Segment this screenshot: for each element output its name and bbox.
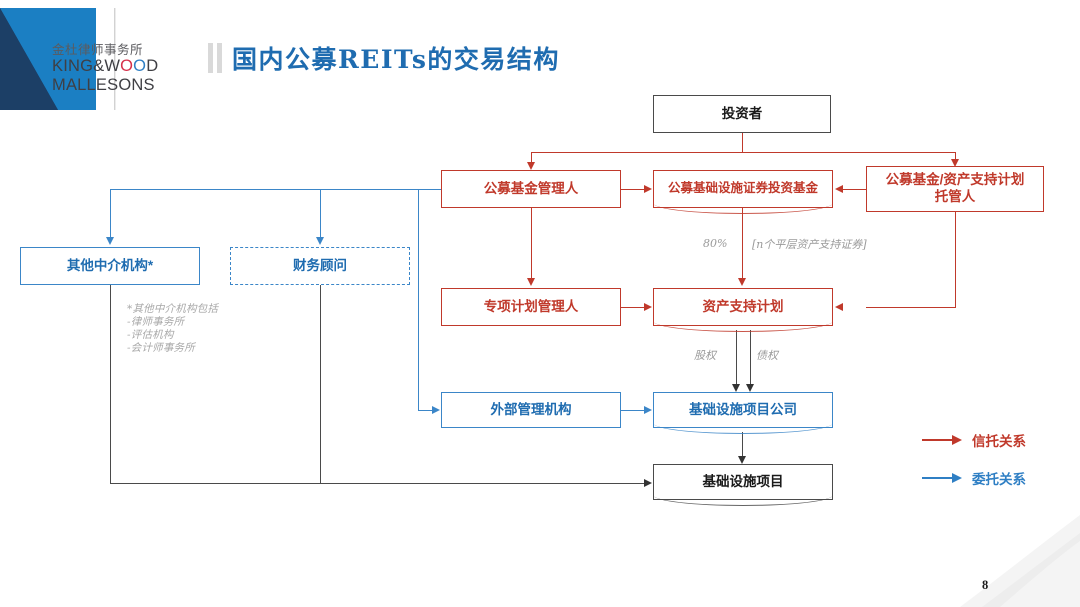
edge-investor-to-fundmanager-h [531, 152, 743, 153]
edge-fundmanager-to-absmanager [531, 208, 532, 278]
node-investor-label: 投资者 [722, 106, 763, 123]
logo-name-en-line2: MALLESONS [52, 76, 184, 95]
edge-custodian-to-absplan-h [866, 307, 956, 308]
node-fund-manager[interactable]: 公募基金管理人 [441, 170, 621, 208]
edge-custodian-down [955, 212, 956, 307]
legend-label-trust: 信托关系 [972, 430, 1026, 450]
page-number: 8 [982, 578, 988, 593]
title-accent-bars [208, 43, 222, 73]
edge-projectcompany-to-project [742, 432, 743, 456]
edge-label-n-tranche-abs: [n个平层资产支持证券] [752, 236, 867, 252]
edge-custodian-to-reitfund [843, 189, 866, 190]
node-investor[interactable]: 投资者 [653, 95, 831, 133]
logo-name-cn: 金杜律师事务所 [52, 42, 184, 57]
edge-bus-to-external-manager [418, 410, 432, 411]
edge-fundmanager-stem [531, 152, 532, 162]
legend-arrow-blue-icon [922, 473, 962, 483]
logo-wordmark: 金杜律师事务所 KING&WOOD MALLESONS [52, 42, 184, 95]
node-fund-manager-label: 公募基金管理人 [484, 181, 579, 198]
arrow-absplan-from-custodian [835, 303, 843, 311]
arrow-debt-into-project-company [746, 384, 754, 392]
footnote-other-intermediaries: *其他中介机构包括 -律师事务所 -评估机构 -会计师事务所 [127, 303, 218, 355]
arrow-into-external-manager [432, 406, 440, 414]
edge-other-intermediaries-drop [110, 285, 111, 483]
node-project-company-label: 基础设施项目公司 [689, 402, 797, 419]
edge-fundmanager-to-reitfund [621, 189, 644, 190]
arrow-into-abs-plan [738, 278, 746, 286]
logo-name-en-line1: KING&WOOD [52, 57, 184, 76]
arrow-into-project-company [644, 406, 652, 414]
arrow-equity-into-project-company [732, 384, 740, 392]
edge-financial-advisor-drop [320, 285, 321, 483]
arrow-into-fund-manager [527, 162, 535, 170]
node-public-reit-fund-label: 公募基础设施证券投资基金 [668, 181, 818, 197]
page-title: 国内公募REITs的交易结构 [232, 40, 560, 76]
edge-label-debt: 债权 [756, 347, 778, 363]
edge-investor-to-custodian-h [742, 152, 955, 153]
arrow-bottom-bus-into-project [644, 479, 652, 487]
node-abs-plan[interactable]: 资产支持计划 [653, 288, 833, 326]
edge-externalmanager-to-projectcompany [621, 410, 644, 411]
logo-en-o-red: O [120, 57, 133, 75]
edge-bus-down-other [110, 189, 111, 237]
node-abs-plan-manager[interactable]: 专项计划管理人 [441, 288, 621, 326]
node-abs-plan-label: 资产支持计划 [703, 299, 784, 316]
arrow-into-reit-fund [644, 185, 652, 193]
edge-fundmanager-left-bus [110, 189, 441, 190]
edge-absplan-equity [736, 330, 737, 384]
node-public-reit-fund[interactable]: 公募基础设施证券投资基金 [653, 170, 833, 208]
node-external-manager[interactable]: 外部管理机构 [441, 392, 621, 428]
legend-arrow-red-icon [922, 435, 962, 445]
edge-absplan-debt [750, 330, 751, 384]
edge-absmanager-to-absplan [621, 307, 644, 308]
slide-canvas: 金杜律师事务所 KING&WOOD MALLESONS 国内公募REITs的交易… [0, 0, 1080, 607]
arrow-into-other-intermediaries [106, 237, 114, 245]
node-abs-plan-manager-label: 专项计划管理人 [484, 299, 579, 316]
corner-swoosh-icon [890, 515, 1080, 607]
node-project-company[interactable]: 基础设施项目公司 [653, 392, 833, 428]
logo-en-seg-b: D [146, 57, 158, 75]
edge-bus-right-down [418, 189, 419, 410]
node-external-manager-label: 外部管理机构 [491, 402, 572, 419]
legend-item-trust: 信托关系 [922, 430, 1026, 450]
arrow-reitfund-from-custodian [835, 185, 843, 193]
arrow-into-abs-plan-manager [527, 278, 535, 286]
edge-investor-down [742, 133, 743, 153]
legend-item-entrust: 委托关系 [922, 468, 1026, 488]
node-custodian-label: 公募基金/资产支持计划 托管人 [886, 172, 1025, 206]
node-other-intermediaries-label: 其他中介机构* [67, 258, 153, 275]
corner-decoration [890, 515, 1080, 607]
logo-en-seg-a: KING&W [52, 57, 120, 75]
edge-bottom-bus [110, 483, 644, 484]
edge-label-equity: 股权 [694, 347, 716, 363]
arrow-absplan-from-manager [644, 303, 652, 311]
edge-label-eighty-percent: 80% [703, 237, 727, 250]
logo-en-o-blue: O [133, 57, 146, 75]
node-infrastructure-project-label: 基础设施项目 [703, 474, 784, 491]
arrow-into-financial-advisor [316, 237, 324, 245]
firm-logo: 金杜律师事务所 KING&WOOD MALLESONS [0, 0, 186, 120]
node-other-intermediaries[interactable]: 其他中介机构* [20, 247, 200, 285]
legend-label-entrust: 委托关系 [972, 468, 1026, 488]
edge-reitfund-to-absplan [742, 208, 743, 278]
node-financial-advisor[interactable]: 财务顾问 [230, 247, 410, 285]
node-custodian[interactable]: 公募基金/资产支持计划 托管人 [866, 166, 1044, 212]
arrow-into-infrastructure-project [738, 456, 746, 464]
node-infrastructure-project[interactable]: 基础设施项目 [653, 464, 833, 500]
node-financial-advisor-label: 财务顾问 [293, 258, 347, 275]
edge-bus-down-advisor [320, 189, 321, 237]
